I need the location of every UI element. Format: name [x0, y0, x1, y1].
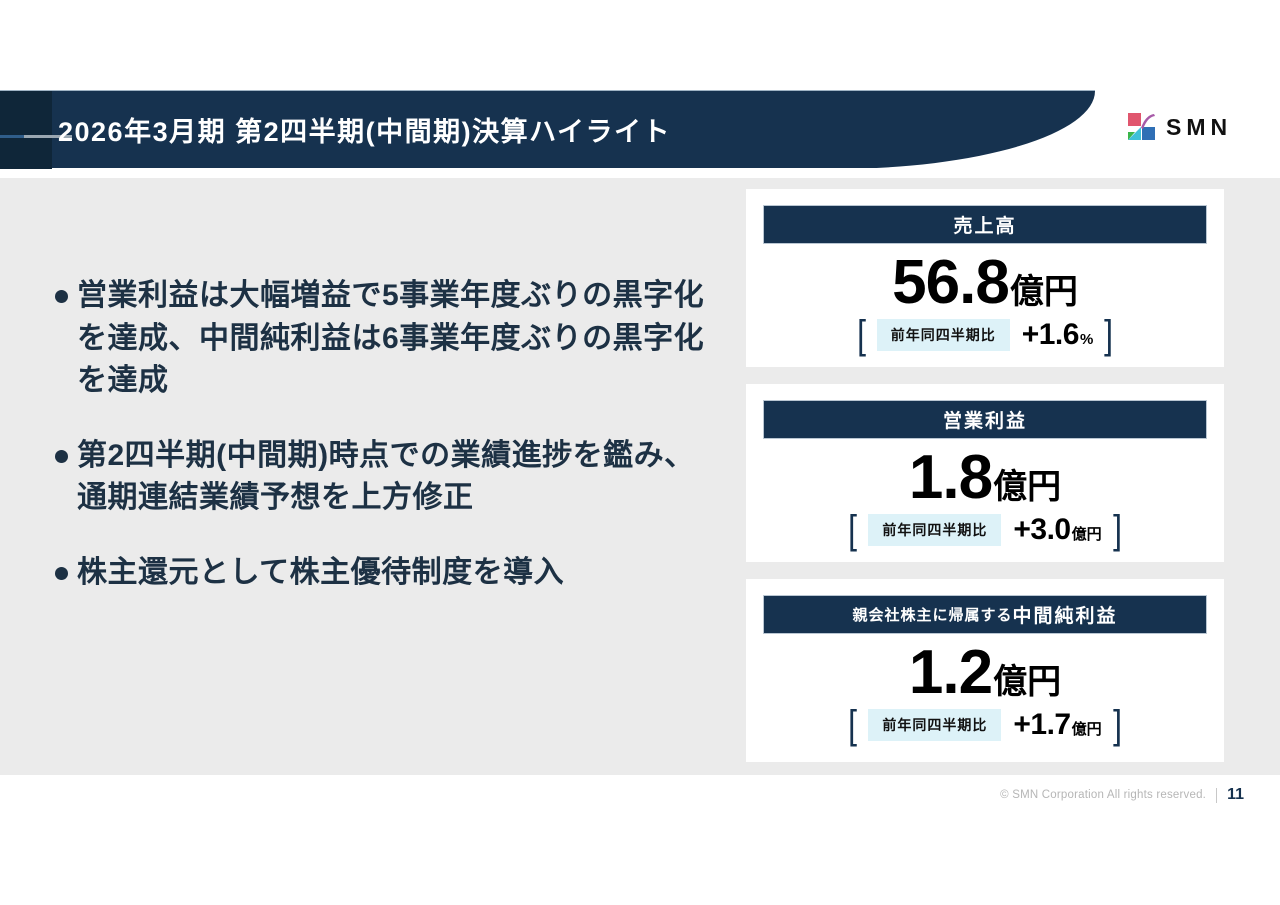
list-item-label: 営業利益は大幅増益で5事業年度ぶりの黒字化を達成、中間純利益は6事業年度ぶりの黒… — [77, 275, 705, 403]
kpi-delta-number: +3.0 — [1013, 513, 1070, 547]
kpi-delta-number: +1.6 — [1022, 318, 1079, 352]
bracket-left: [ — [848, 510, 857, 550]
smn-logo-mark-icon — [1127, 112, 1157, 142]
bullet-dot-icon — [55, 450, 68, 463]
kpi-card-header: 営業利益 — [763, 400, 1207, 439]
kpi-delta: +1.6 % — [1022, 318, 1094, 352]
kpi-card-operating-profit: 営業利益 1.8 億円 [ 前年同四半期比 +3.0 億円 ] — [746, 384, 1224, 562]
bracket-left: [ — [848, 705, 857, 745]
kpi-delta-unit: 億円 — [1072, 718, 1102, 739]
kpi-card-header: 売上高 — [763, 205, 1207, 244]
kpi-unit: 億円 — [993, 654, 1061, 703]
bracket-right: ] — [1104, 315, 1113, 355]
kpi-card-revenue: 売上高 56.8 億円 [ 前年同四半期比 +1.6 % ] — [746, 189, 1224, 367]
kpi-unit: 億円 — [1010, 264, 1078, 313]
kpi-delta: +3.0 億円 — [1013, 513, 1101, 547]
kpi-value: 1.8 億円 — [746, 443, 1224, 512]
kpi-delta-number: +1.7 — [1013, 708, 1070, 742]
bracket-right: ] — [1113, 705, 1122, 745]
kpi-comparison-row: [ 前年同四半期比 +1.6 % ] — [746, 315, 1224, 355]
kpi-number: 1.2 — [909, 638, 992, 707]
highlights-bullet-list: 営業利益は大幅増益で5事業年度ぶりの黒字化を達成、中間純利益は6事業年度ぶりの黒… — [55, 275, 705, 627]
page-number: 11 — [1227, 786, 1244, 804]
kpi-delta: +1.7 億円 — [1013, 708, 1101, 742]
kpi-compare-badge: 前年同四半期比 — [868, 709, 1001, 741]
header-left-accent-block — [0, 90, 52, 169]
kpi-delta-unit: 億円 — [1072, 523, 1102, 544]
kpi-number: 56.8 — [892, 248, 1009, 317]
header-dash-line-accent — [0, 135, 24, 138]
list-item-label: 第2四半期(中間期)時点での業績進捗を鑑み、通期連結業績予想を上方修正 — [77, 435, 705, 520]
kpi-header-prefix: 親会社株主に帰属する — [852, 604, 1012, 625]
bracket-left: [ — [857, 315, 866, 355]
footer: © SMN Corporation All rights reserved. 1… — [1000, 786, 1244, 804]
list-item: 株主還元として株主優待制度を導入 — [55, 552, 705, 595]
kpi-comparison-row: [ 前年同四半期比 +3.0 億円 ] — [746, 510, 1224, 550]
list-item: 営業利益は大幅増益で5事業年度ぶりの黒字化を達成、中間純利益は6事業年度ぶりの黒… — [55, 275, 705, 403]
kpi-card-header: 親会社株主に帰属する中間純利益 — [763, 595, 1207, 634]
kpi-number: 1.8 — [909, 443, 992, 512]
list-item-label: 株主還元として株主優待制度を導入 — [77, 552, 705, 595]
footer-divider — [1216, 788, 1217, 803]
list-item: 第2四半期(中間期)時点での業績進捗を鑑み、通期連結業績予想を上方修正 — [55, 435, 705, 520]
kpi-header-main: 売上高 — [953, 211, 1016, 238]
kpi-compare-badge: 前年同四半期比 — [868, 514, 1001, 546]
kpi-value: 1.2 億円 — [746, 638, 1224, 707]
kpi-comparison-row: [ 前年同四半期比 +1.7 億円 ] — [746, 705, 1224, 745]
kpi-header-main: 中間純利益 — [1013, 601, 1118, 628]
bullet-dot-icon — [55, 290, 68, 303]
kpi-unit: 億円 — [993, 459, 1061, 508]
bullet-dot-icon — [55, 567, 68, 580]
kpi-card-net-income: 親会社株主に帰属する中間純利益 1.2 億円 [ 前年同四半期比 +1.7 億円… — [746, 579, 1224, 762]
kpi-delta-unit: % — [1080, 331, 1093, 348]
kpi-header-main: 営業利益 — [943, 406, 1027, 433]
kpi-compare-badge: 前年同四半期比 — [877, 319, 1010, 351]
kpi-value: 56.8 億円 — [746, 248, 1224, 317]
smn-logo-text: SMN — [1166, 114, 1232, 141]
footer-copyright: © SMN Corporation All rights reserved. — [1000, 789, 1206, 801]
page-title: 2026年3月期 第2四半期(中間期)決算ハイライト — [58, 90, 671, 168]
bracket-right: ] — [1113, 510, 1122, 550]
smn-logo: SMN — [1127, 112, 1232, 142]
